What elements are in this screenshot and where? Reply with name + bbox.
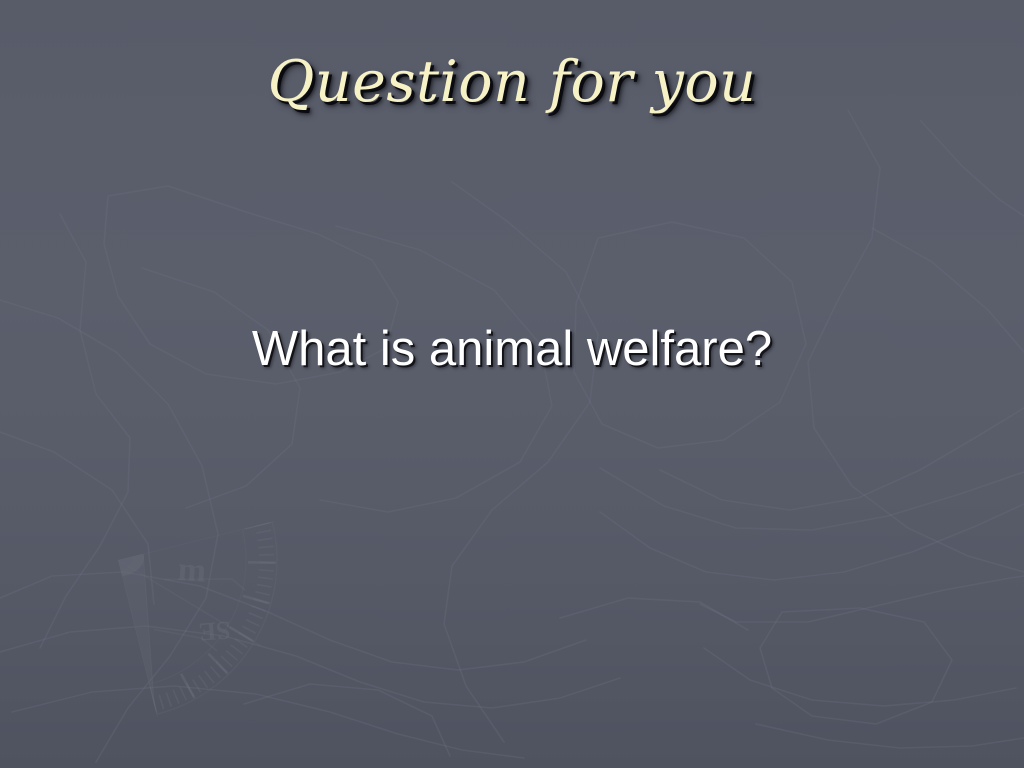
compass-label-east: E xyxy=(175,471,226,521)
compass-label-south: S xyxy=(114,643,139,689)
slide-body-text: What is animal welfare? xyxy=(252,322,772,377)
slide-title: Question for you xyxy=(268,52,757,114)
presentation-slide: N W E S SE NW m Question for you xyxy=(0,0,1024,768)
content-placeholder: What is animal welfare? xyxy=(0,322,1024,377)
compass-label-southeast: SE xyxy=(198,616,232,647)
compass-label-nw: NW xyxy=(0,463,7,512)
compass-label-west: W xyxy=(0,512,23,564)
compass-label-m: m xyxy=(177,551,208,590)
title-placeholder: Question for you xyxy=(0,52,1024,114)
compass-rose-watermark: N W E S SE NW m xyxy=(0,0,1024,768)
background-contour-layer xyxy=(0,0,1024,768)
compass-label-north: N xyxy=(81,435,110,480)
